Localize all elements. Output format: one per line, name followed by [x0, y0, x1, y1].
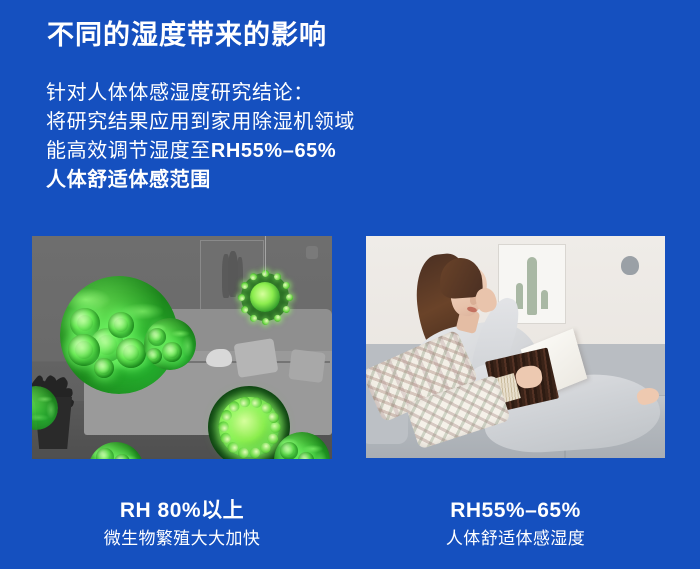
microbe-edge-partial — [144, 318, 196, 370]
caption-high-humidity: RH 80%以上 微生物繁殖大大加快 — [32, 498, 332, 551]
humidity-range-highlight: RH55%–65% — [211, 140, 336, 162]
decor-vase-dim — [206, 349, 232, 367]
cactus-illustration — [527, 257, 537, 315]
bright-room-scene — [366, 236, 665, 458]
sofa-cushion-secondary-dim — [288, 349, 325, 383]
microbe-spiked-upper — [241, 273, 289, 321]
dim-room-scene — [32, 236, 332, 459]
wall-speaker-icon-bright — [621, 256, 639, 275]
caption-subtitle: 微生物繁殖大大加快 — [32, 526, 332, 551]
body-copy: 针对人体体感湿度研究结论： 将研究结果应用到家用除湿机领域 能高效调节湿度至RH… — [46, 79, 355, 195]
body-copy-line-3: 能高效调节湿度至RH55%–65% — [46, 137, 355, 166]
wall-speaker-icon-dim — [306, 246, 318, 259]
body-copy-line-2: 将研究结果应用到家用除湿机领域 — [46, 108, 355, 137]
caption-subtitle: 人体舒适体感湿度 — [366, 526, 665, 551]
page-title: 不同的湿度带来的影响 — [47, 19, 327, 53]
caption-title: RH 80%以上 — [32, 498, 332, 524]
photo-high-humidity — [32, 236, 332, 459]
body-copy-line-4: 人体舒适体感范围 — [46, 166, 355, 195]
hanging-thread — [265, 236, 266, 274]
body-copy-line-3-prefix: 能高效调节湿度至 — [46, 140, 211, 162]
body-copy-line-1: 针对人体体感湿度研究结论： — [46, 79, 355, 108]
caption-comfort-humidity: RH55%–65% 人体舒适体感湿度 — [366, 498, 665, 551]
photo-comfort-humidity — [366, 236, 665, 458]
caption-title: RH55%–65% — [366, 498, 665, 524]
sofa-cushion-dim — [234, 338, 279, 378]
humidity-infographic: 不同的湿度带来的影响 针对人体体感湿度研究结论： 将研究结果应用到家用除湿机领域… — [0, 0, 700, 569]
